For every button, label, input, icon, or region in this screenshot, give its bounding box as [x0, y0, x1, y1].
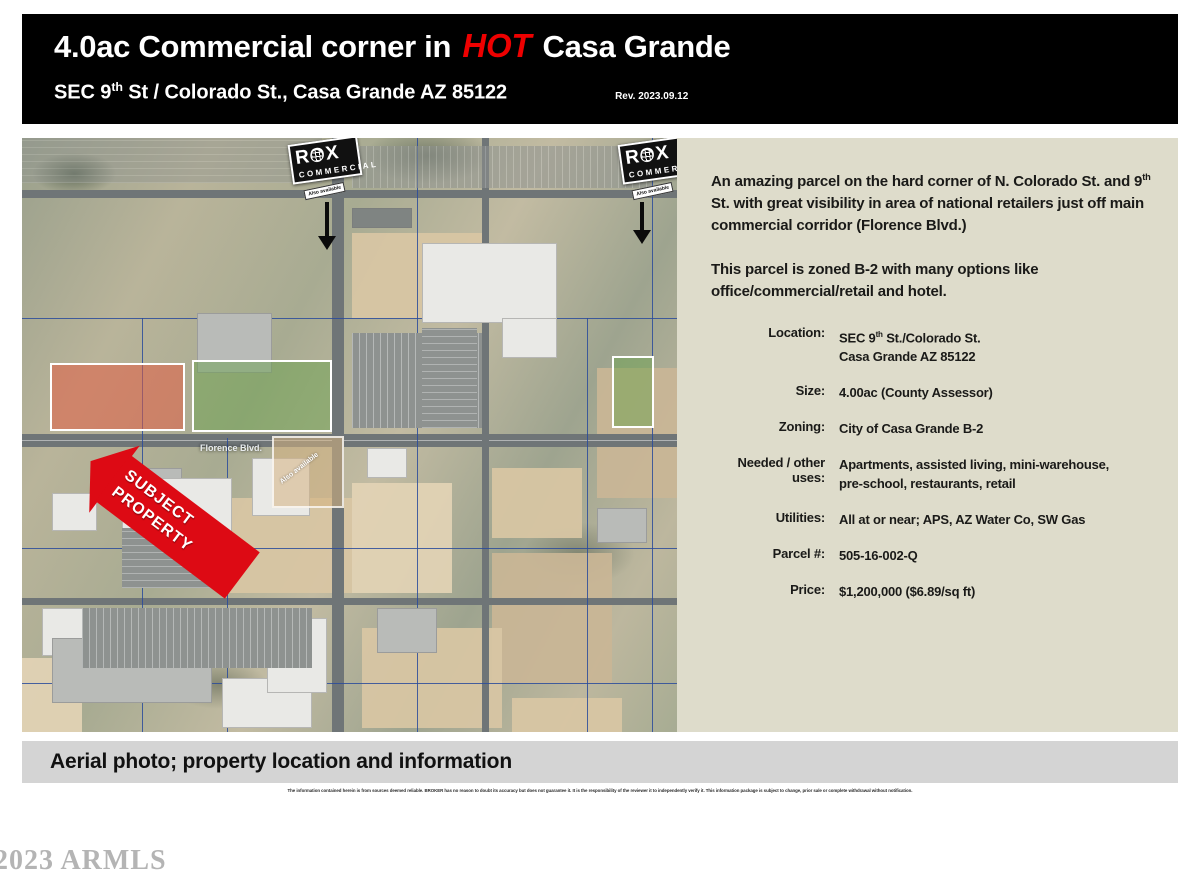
map-parcel-line: [22, 548, 677, 549]
spec-label-uses: Needed / other uses:: [711, 455, 839, 510]
rox-logo-sign: ROX COMMERCIAL: [618, 138, 677, 185]
paragraph1-part-a: An amazing parcel on the hard corner of …: [711, 173, 1142, 190]
table-row: Zoning: City of Casa Grande B-2: [711, 419, 1160, 455]
map-vacant-lot: [512, 698, 622, 732]
map-parcel-highlight-red[interactable]: [50, 363, 185, 431]
spec-label-location: Location:: [711, 325, 839, 383]
map-building: [502, 318, 557, 358]
paragraph1-ordinal: th: [1142, 172, 1150, 182]
map-parcel-line: [587, 318, 588, 732]
map-parcel-line: [652, 138, 653, 732]
map-vacant-lot: [492, 468, 582, 538]
table-row: Utilities: All at or near; APS, AZ Water…: [711, 510, 1160, 546]
spec-label-size: Size:: [711, 383, 839, 419]
spec-value-uses: Apartments, assisted living, mini-wareho…: [839, 455, 1160, 510]
table-row: Location: SEC 9th St./Colorado St. Casa …: [711, 325, 1160, 383]
page-title: 4.0ac Commercial corner in HOT Casa Gran…: [54, 26, 1178, 67]
spec-value-zoning: City of Casa Grande B-2: [839, 419, 1160, 455]
spec-value-size: 4.00ac (County Assessor): [839, 383, 1160, 419]
map-street-label: Florence Blvd.: [200, 443, 262, 453]
callout-arrow-head: [633, 230, 651, 244]
armls-watermark: 2023 ARMLS: [0, 845, 167, 877]
map-parking-lot: [82, 608, 312, 668]
spec-value-parcel: 505-16-002-Q: [839, 546, 1160, 582]
map-building: [377, 608, 437, 653]
revision-date: Rev. 2023.09.12: [615, 91, 688, 102]
header-banner: 4.0ac Commercial corner in HOT Casa Gran…: [22, 14, 1178, 124]
parcel-note-label: Also available: [278, 451, 320, 487]
spec-label-price: Price:: [711, 582, 839, 618]
map-road-horizontal: [22, 598, 677, 605]
hot-emphasis: HOT: [459, 27, 534, 64]
property-specs-table: Location: SEC 9th St./Colorado St. Casa …: [711, 325, 1160, 618]
location-ordinal: th: [876, 330, 883, 339]
content-band: Also available Florence Blvd. ROX COMMER…: [22, 138, 1178, 732]
page-subtitle: SEC 9th St / Colorado St., Casa Grande A…: [54, 80, 507, 105]
property-info-panel: An amazing parcel on the hard corner of …: [677, 138, 1178, 732]
spec-value-location: SEC 9th St./Colorado St. Casa Grande AZ …: [839, 325, 1160, 383]
info-paragraph-2: This parcel is zoned B-2 with many optio…: [711, 259, 1160, 303]
location-part-a: SEC 9: [839, 330, 876, 345]
map-parking-lot: [422, 328, 477, 428]
spec-label-zoning: Zoning:: [711, 419, 839, 455]
map-parcel-highlight-tan[interactable]: Also available: [272, 436, 344, 508]
map-building: [367, 448, 407, 478]
table-row: Size: 4.00ac (County Assessor): [711, 383, 1160, 419]
spec-value-price: $1,200,000 ($6.89/sq ft): [839, 582, 1160, 618]
table-row: Parcel #: 505-16-002-Q: [711, 546, 1160, 582]
title-text-before: 4.0ac Commercial corner in: [54, 29, 459, 64]
table-row: Needed / other uses: Apartments, assiste…: [711, 455, 1160, 510]
subtitle-ordinal: th: [111, 80, 123, 94]
callout-arrow-head: [318, 236, 336, 250]
map-vacant-lot: [352, 483, 452, 593]
map-residential-area: [352, 146, 652, 188]
rox-logo-sign: ROX COMMERCIAL: [288, 138, 363, 185]
map-vacant-lot: [492, 553, 612, 683]
map-building: [597, 508, 647, 543]
title-text-after: Casa Grande: [534, 29, 730, 64]
callout-arrow-shaft: [325, 202, 329, 240]
map-building: [422, 243, 557, 323]
map-road-horizontal: [22, 190, 677, 198]
rox-callout-left[interactable]: ROX COMMERCIAL Also available: [290, 140, 360, 180]
subtitle-part-a: SEC 9: [54, 82, 111, 104]
map-parcel-highlight-green[interactable]: [612, 356, 654, 428]
map-parcel-line: [22, 318, 677, 319]
map-road-vertical: [332, 138, 344, 732]
spec-label-parcel: Parcel #:: [711, 546, 839, 582]
paragraph1-part-b: St. with great visibility in area of nat…: [711, 195, 1144, 234]
map-parcel-highlight-green[interactable]: [192, 360, 332, 432]
map-building: [352, 208, 412, 228]
header-subtitle-row: SEC 9th St / Colorado St., Casa Grande A…: [54, 80, 1178, 105]
caption-text: Aerial photo; property location and info…: [50, 750, 512, 774]
flyer-page: 4.0ac Commercial corner in HOT Casa Gran…: [0, 0, 1200, 892]
aerial-map[interactable]: Also available Florence Blvd. ROX COMMER…: [22, 138, 677, 732]
info-paragraph-1: An amazing parcel on the hard corner of …: [711, 166, 1160, 237]
caption-bar: Aerial photo; property location and info…: [22, 741, 1178, 783]
subtitle-part-b: St / Colorado St., Casa Grande AZ 85122: [123, 82, 507, 104]
legal-disclaimer: The information contained herein is from…: [22, 787, 1178, 794]
rox-callout-right[interactable]: ROX COMMERCIAL Also available: [620, 140, 677, 180]
spec-label-utilities: Utilities:: [711, 510, 839, 546]
map-road-vertical: [482, 138, 489, 732]
spec-value-utilities: All at or near; APS, AZ Water Co, SW Gas: [839, 510, 1160, 546]
map-residential-area: [22, 138, 322, 183]
table-row: Price: $1,200,000 ($6.89/sq ft): [711, 582, 1160, 618]
